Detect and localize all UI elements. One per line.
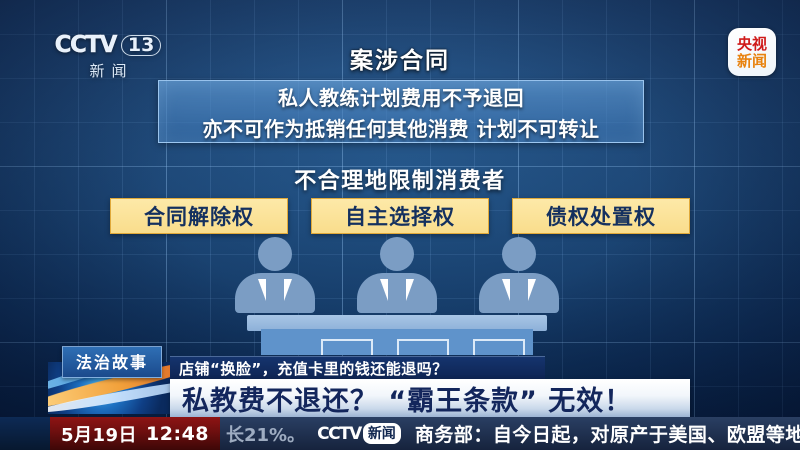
right-chip: 债权处置权: [512, 198, 690, 234]
collar-left: [380, 279, 388, 301]
person-head: [258, 237, 292, 271]
ticker-previous-fragment: 长21%。: [226, 421, 305, 447]
broadcast-stage: CCTV 13 新闻 央视 新闻 案涉合同 私人教练计划费用不予退回 亦不可作为…: [0, 0, 800, 450]
person-body: [235, 273, 315, 313]
person-body: [357, 273, 437, 313]
contract-clause-line: 私人教练计划费用不予退回: [278, 82, 524, 111]
contract-clause-line: 亦不可作为抵销任何其他消费 计划不可转让: [203, 113, 600, 142]
cctv-ticker-wordmark: CCTV: [317, 424, 361, 444]
collar-left: [502, 279, 510, 301]
program-name-tag: 法治故事: [62, 346, 162, 378]
person-silhouette-icon: [357, 237, 437, 313]
infographic-title: 案涉合同: [0, 41, 800, 75]
headline-bar: 私教费不退还？ “霸王条款” 无效！: [170, 379, 690, 417]
news-ticker: 5月19日 12:48 长21%。 CCTV 新闻 商务部：自今日起，对原产于美…: [0, 417, 800, 450]
subheadline-bar: 店铺“换脸”，充值卡里的钱还能退吗？: [170, 356, 545, 380]
collar-left: [258, 279, 266, 301]
person-body: [479, 273, 559, 313]
restriction-heading: 不合理地限制消费者: [0, 163, 800, 195]
consumer-rights-row: 合同解除权 自主选择权 债权处置权: [110, 198, 690, 234]
collar-right: [528, 279, 536, 301]
subheadline-text: 店铺“换脸”，充值卡里的钱还能退吗？: [179, 358, 448, 379]
person-silhouette-icon: [235, 237, 315, 313]
person-silhouette-icon: [479, 237, 559, 313]
news-ticker-label: 新闻: [363, 423, 401, 444]
datetime-block: 5月19日 12:48: [50, 417, 220, 450]
ticker-scroll-area: 长21%。 CCTV 新闻 商务部：自今日起，对原产于美国、欧盟等地: [220, 417, 800, 450]
cctv-news-ticker-logo: CCTV 新闻: [317, 423, 401, 444]
ticker-left-spacer: [0, 417, 50, 450]
collar-right: [284, 279, 292, 301]
ticker-date: 5月19日: [61, 421, 137, 447]
right-chip: 自主选择权: [311, 198, 489, 234]
ticker-time: 12:48: [146, 423, 209, 445]
lower-third: 法治故事 店铺“换脸”，充值卡里的钱还能退吗？ 私教费不退还？ “霸王条款” 无…: [0, 342, 800, 450]
headline-text: 私教费不退还？ “霸王条款” 无效！: [182, 379, 632, 418]
ticker-headline-text: 商务部：自今日起，对原产于美国、欧盟等地: [415, 420, 800, 447]
panel-silhouette-illustration: [235, 245, 560, 355]
person-head: [502, 237, 536, 271]
collar-right: [406, 279, 414, 301]
right-chip: 合同解除权: [110, 198, 288, 234]
person-head: [380, 237, 414, 271]
contract-clause-box: 私人教练计划费用不予退回 亦不可作为抵销任何其他消费 计划不可转让: [158, 80, 644, 143]
